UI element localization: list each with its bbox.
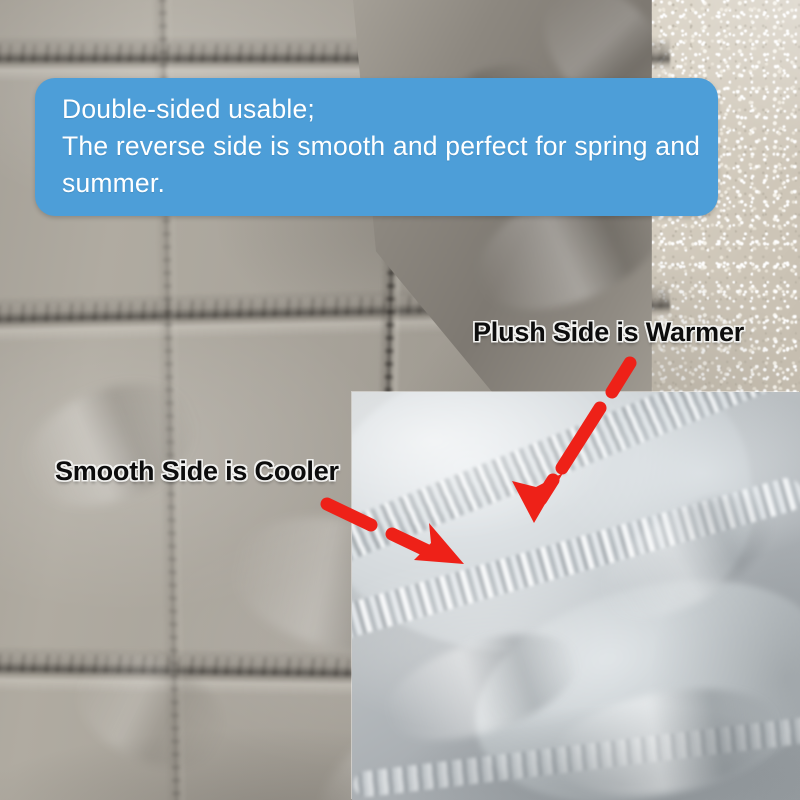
caption-banner-text: Double-sided usable; The reverse side is… (62, 91, 704, 202)
inset-detail-photo (352, 392, 800, 800)
label-plush-side: Plush Side is Warmer (473, 317, 744, 348)
caption-banner: Double-sided usable; The reverse side is… (35, 78, 718, 216)
label-smooth-side: Smooth Side is Cooler (55, 456, 339, 487)
product-image: Double-sided usable; The reverse side is… (0, 0, 800, 800)
